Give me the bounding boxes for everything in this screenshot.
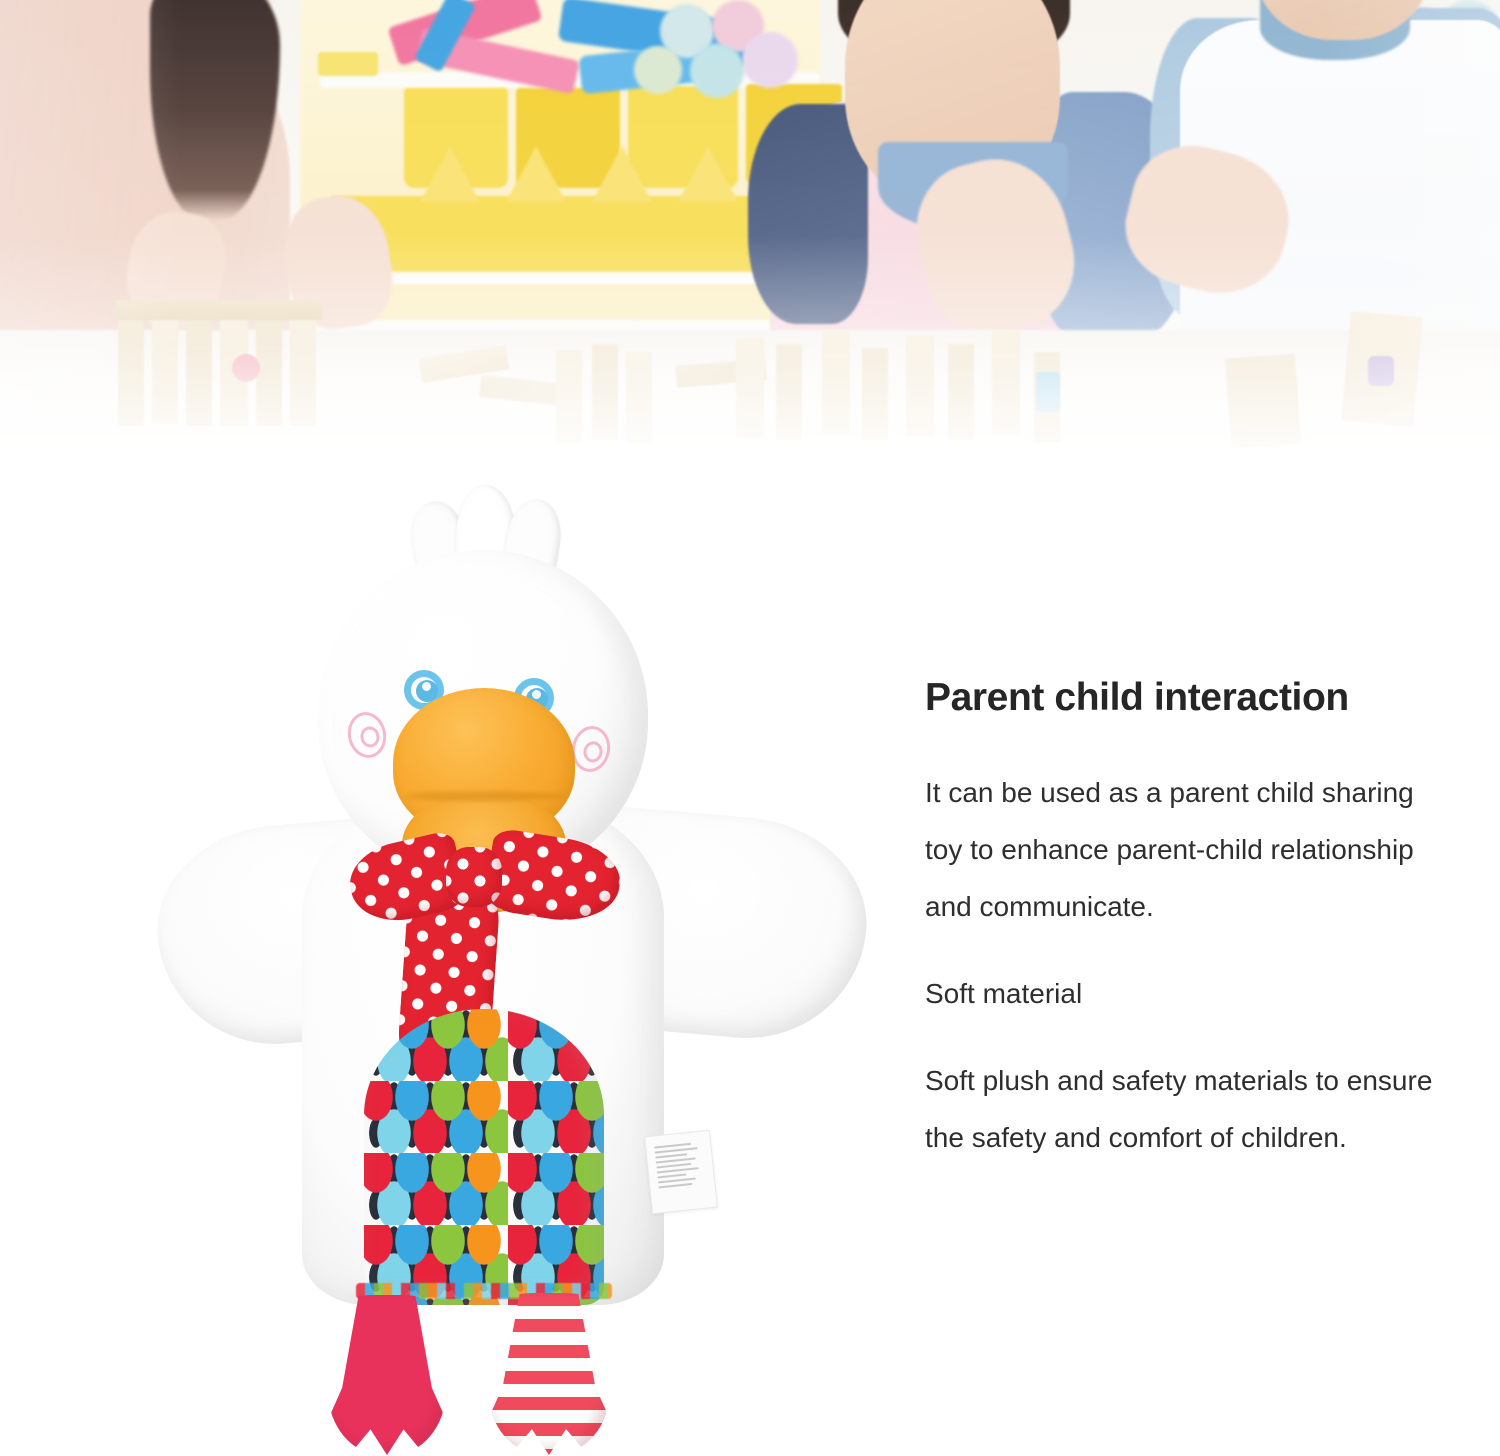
headline: Parent child interaction xyxy=(925,676,1445,720)
feature-copy-column: Parent child interaction It can be used … xyxy=(925,676,1445,1166)
paragraph-one: It can be used as a parent child sharing… xyxy=(925,764,1445,935)
cheek-left xyxy=(344,709,391,762)
foot-left-solid xyxy=(328,1295,446,1455)
eye-left-highlight xyxy=(422,682,431,691)
product-feature-page: Parent child interaction It can be used … xyxy=(0,0,1500,1456)
cheek-right-inner xyxy=(582,740,604,764)
lifestyle-banner-photo xyxy=(0,0,1500,492)
cheek-left-inner xyxy=(358,725,381,749)
eye-right-highlight xyxy=(532,690,541,699)
bow-knot xyxy=(446,847,502,907)
product-photo-duck-puppet xyxy=(150,495,870,1456)
beak-seam xyxy=(406,791,564,801)
paragraph-two: Soft plush and safety materials to ensur… xyxy=(925,1052,1445,1166)
apron-panel xyxy=(364,1009,604,1305)
care-label-tag xyxy=(644,1130,718,1214)
banner-edge-fade xyxy=(0,0,1500,492)
spacer xyxy=(925,1022,1445,1052)
cheek-right xyxy=(568,723,613,775)
subheading: Soft material xyxy=(925,965,1445,1022)
foot-right-striped xyxy=(488,1293,610,1455)
spacer xyxy=(925,935,1445,965)
